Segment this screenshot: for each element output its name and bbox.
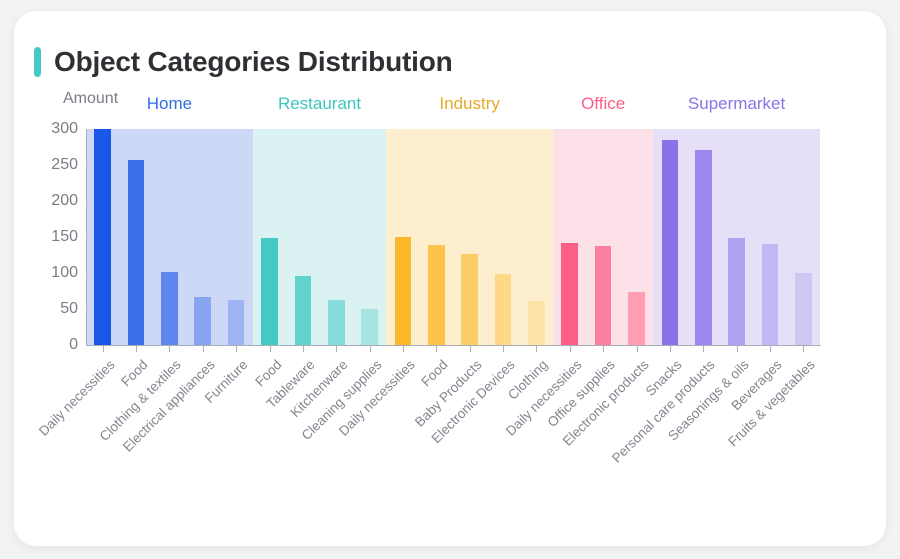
bar[interactable] (94, 129, 111, 345)
bar[interactable] (495, 274, 512, 345)
x-axis-tick-mark (603, 346, 604, 352)
y-axis-tick-mark (86, 201, 91, 202)
y-axis-tick-mark (86, 165, 91, 166)
y-axis-tick-label: 300 (51, 120, 78, 138)
group-label-restaurant: Restaurant (278, 94, 361, 114)
bar[interactable] (428, 245, 445, 345)
bar[interactable] (461, 254, 478, 345)
y-axis-tick-label: 250 (51, 156, 78, 174)
y-axis-tick-label: 50 (60, 300, 78, 318)
x-axis-tick-mark (169, 346, 170, 352)
y-axis-tick-label: 0 (69, 336, 78, 354)
x-axis-tick-mark (270, 346, 271, 352)
x-axis-line (86, 345, 821, 346)
bar[interactable] (762, 244, 779, 345)
x-axis-tick-mark (703, 346, 704, 352)
y-axis-tick-label: 150 (51, 228, 78, 246)
bar[interactable] (728, 238, 745, 345)
group-label-office: Office (581, 94, 625, 114)
x-axis-tick-mark (803, 346, 804, 352)
x-axis-tick-mark (536, 346, 537, 352)
y-axis-title: Amount (63, 90, 118, 108)
chart-card: Object Categories Distribution Amount 05… (14, 11, 886, 546)
y-axis-tick-mark (86, 129, 91, 130)
y-axis-tick-labels: 050100150200250300 (22, 129, 78, 345)
x-axis-tick-mark (103, 346, 104, 352)
bar[interactable] (128, 160, 145, 345)
y-axis-tick-label: 200 (51, 192, 78, 210)
y-axis-tick-mark (86, 309, 91, 310)
x-axis-tick-mark (737, 346, 738, 352)
x-axis-tick-mark (336, 346, 337, 352)
x-axis-tick-mark (436, 346, 437, 352)
x-axis-tick-mark (370, 346, 371, 352)
bar[interactable] (295, 276, 312, 345)
bar[interactable] (662, 140, 679, 345)
x-axis-tick-mark (503, 346, 504, 352)
bar[interactable] (161, 272, 178, 345)
group-label-home: Home (147, 94, 192, 114)
bar[interactable] (795, 273, 812, 345)
bar[interactable] (361, 309, 378, 345)
bar[interactable] (194, 297, 211, 345)
x-axis-tick-mark (403, 346, 404, 352)
x-axis-tick-mark (303, 346, 304, 352)
x-axis-tick-mark (470, 346, 471, 352)
y-axis-tick-mark (86, 273, 91, 274)
bar[interactable] (595, 246, 612, 345)
bar[interactable] (628, 292, 645, 345)
bar[interactable] (328, 300, 345, 345)
plot-area (86, 129, 820, 345)
bar[interactable] (395, 237, 412, 345)
bar[interactable] (695, 150, 712, 345)
y-axis-tick-label: 100 (51, 264, 78, 282)
x-axis-tick-mark (570, 346, 571, 352)
x-axis-tick-mark (203, 346, 204, 352)
x-axis-tick-mark (670, 346, 671, 352)
bar[interactable] (261, 238, 278, 345)
x-axis-tick-mark (637, 346, 638, 352)
x-axis-tick-mark (236, 346, 237, 352)
x-axis-tick-mark (136, 346, 137, 352)
x-axis-tick-mark (770, 346, 771, 352)
group-label-industry: Industry (439, 94, 499, 114)
group-label-supermarket: Supermarket (688, 94, 785, 114)
y-axis-tick-mark (86, 237, 91, 238)
bar[interactable] (528, 301, 545, 345)
bar[interactable] (561, 243, 578, 345)
bar-chart: Amount 050100150200250300 HomeDaily nece… (14, 11, 886, 546)
bar[interactable] (228, 300, 245, 345)
